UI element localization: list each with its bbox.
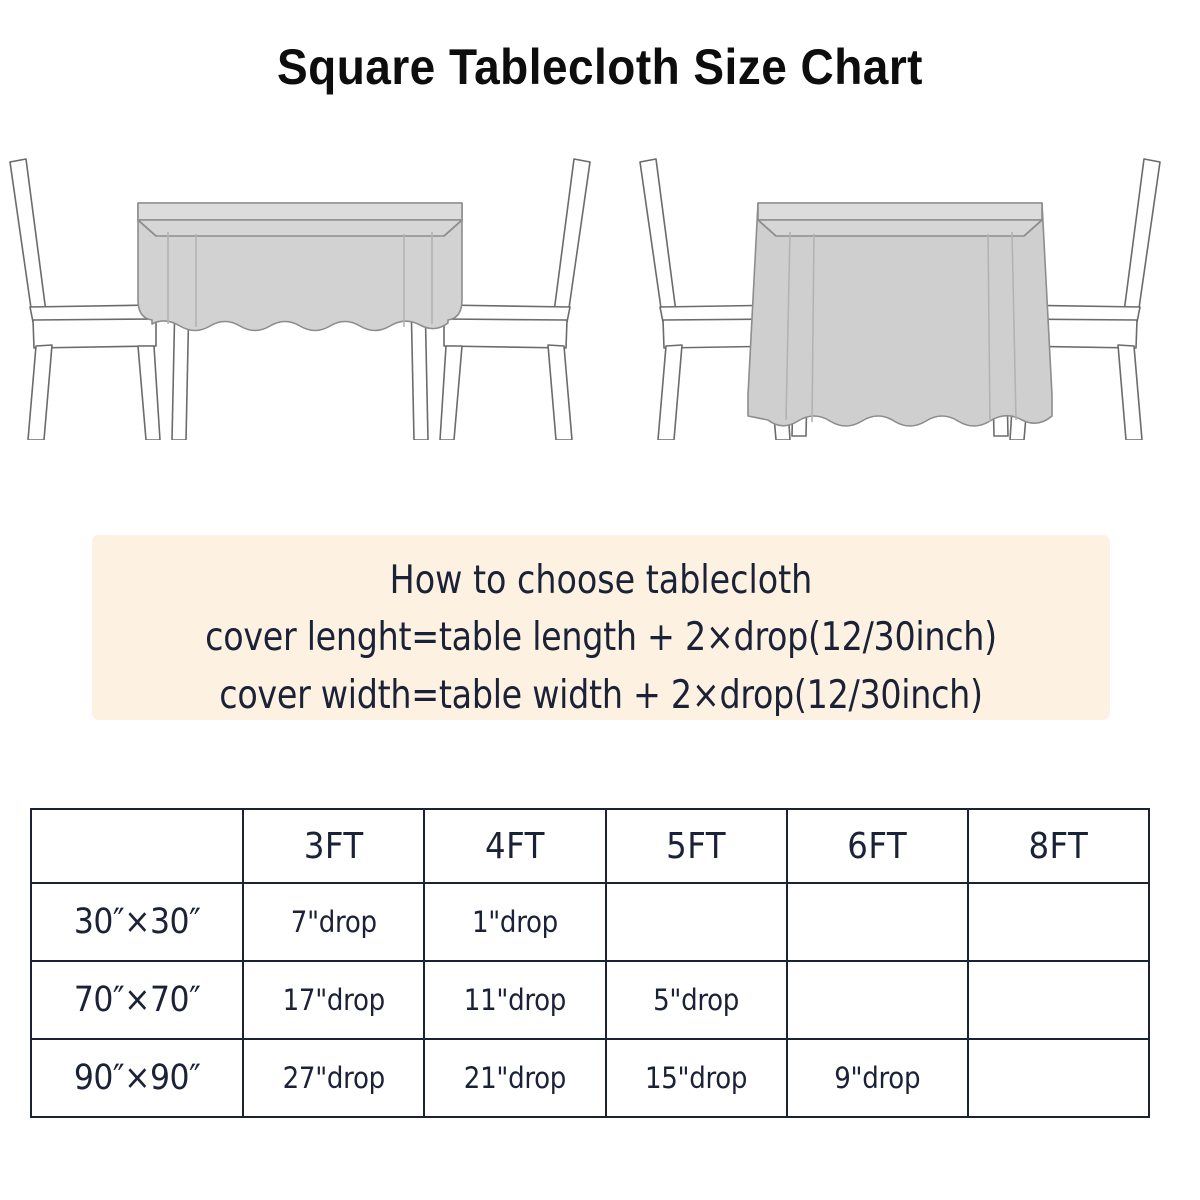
table-row: 90″×90″ 27"drop 21"drop 15"drop 9"drop [31,1039,1149,1117]
illustration-row: 12 inch drop 30 inch drop [0,140,1200,500]
cell-70x70-6ft [787,961,968,1039]
table-row: 30″×30″ 7"drop 1"drop [31,883,1149,961]
row-label-30x30: 30″×30″ [31,883,243,961]
page-title: Square Tablecloth Size Chart [48,38,1152,96]
cell-90x90-5ft: 15"drop [606,1039,787,1117]
cell-70x70-3ft: 17"drop [243,961,424,1039]
row-label-70x70: 70″×70″ [31,961,243,1039]
cell-30x30-5ft [606,883,787,961]
table-header-row: 3FT 4FT 5FT 6FT 8FT [31,809,1149,883]
cell-30x30-4ft: 1"drop [424,883,605,961]
cell-70x70-5ft: 5"drop [606,961,787,1039]
info-formula-width: cover width=table width + 2×drop(12/30in… [117,667,1084,725]
cell-90x90-6ft: 9"drop [787,1039,968,1117]
table-header-5ft: 5FT [606,809,787,883]
row-label-90x90: 90″×90″ [31,1039,243,1117]
table-header-3ft: 3FT [243,809,424,883]
cell-30x30-6ft [787,883,968,961]
cell-70x70-4ft: 11"drop [424,961,605,1039]
size-chart-table: 3FT 4FT 5FT 6FT 8FT 30″×30″ 7"drop 1"dro… [30,808,1150,1118]
tablecloth-12-inch [138,203,462,331]
illustration-30-inch-drop [600,140,1200,440]
tablecloth-30-inch [748,203,1052,426]
cell-90x90-3ft: 27"drop [243,1039,424,1117]
info-heading: How to choose tablecloth [117,553,1084,609]
cell-70x70-8ft [968,961,1149,1039]
cell-30x30-8ft [968,883,1149,961]
info-formula-length: cover lenght=table length + 2×drop(12/30… [117,609,1084,667]
table-header-8ft: 8FT [968,809,1149,883]
illustration-12-inch-drop [0,140,600,440]
cell-30x30-3ft: 7"drop [243,883,424,961]
table-row: 70″×70″ 17"drop 11"drop 5"drop [31,961,1149,1039]
table-header-4ft: 4FT [424,809,605,883]
table-header-6ft: 6FT [787,809,968,883]
cell-90x90-4ft: 21"drop [424,1039,605,1117]
cell-90x90-8ft [968,1039,1149,1117]
table-corner-cell [31,809,243,883]
how-to-choose-info-box: How to choose tablecloth cover lenght=ta… [92,535,1110,720]
